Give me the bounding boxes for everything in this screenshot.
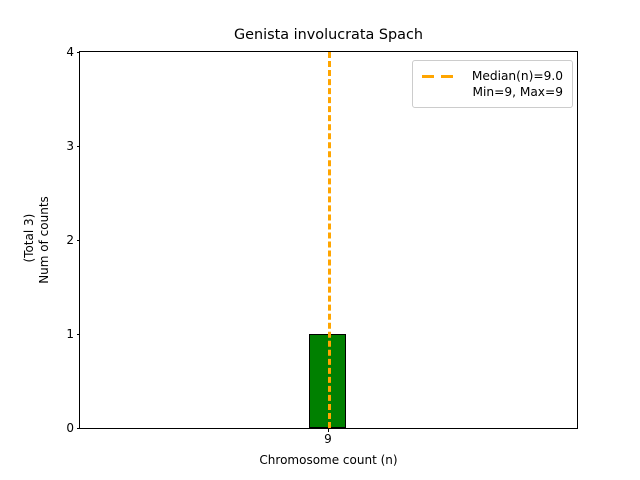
ytick-mark [77,52,81,53]
legend-label-median: Median(n)=9.0 [464,68,563,84]
ytick-label: 0 [66,422,74,434]
y-axis-label-line1: Num of counts [37,196,52,284]
xtick-mark [328,428,329,432]
ytick-mark [77,146,81,147]
legend-entry-median: Median(n)=9.0 [422,68,563,84]
y-axis-label-line2: (Total 3) [22,214,37,267]
ytick-mark [77,240,81,241]
legend-label-minmax: Min=9, Max=9 [422,84,563,100]
median-line [328,52,331,428]
ytick-label: 4 [66,46,74,58]
dashed-line-icon [422,70,456,82]
matplotlib-figure: Genista involucrata Spach 0 1 2 3 4 [0,0,640,480]
ytick-label: 3 [66,140,74,152]
plot-inner: 0 1 2 3 4 [80,52,577,428]
ytick-label: 1 [66,328,74,340]
x-axis-label: Chromosome count (n) [79,453,578,467]
legend: Median(n)=9.0 Min=9, Max=9 [412,60,573,108]
page-title: Genista involucrata Spach [79,27,578,44]
ytick-label: 2 [66,234,74,246]
ytick-mark [77,428,81,429]
y-axis-label: (Total 3) Num of counts [22,51,66,429]
xtick-label: 9 [324,433,332,446]
ytick-mark [77,334,81,335]
